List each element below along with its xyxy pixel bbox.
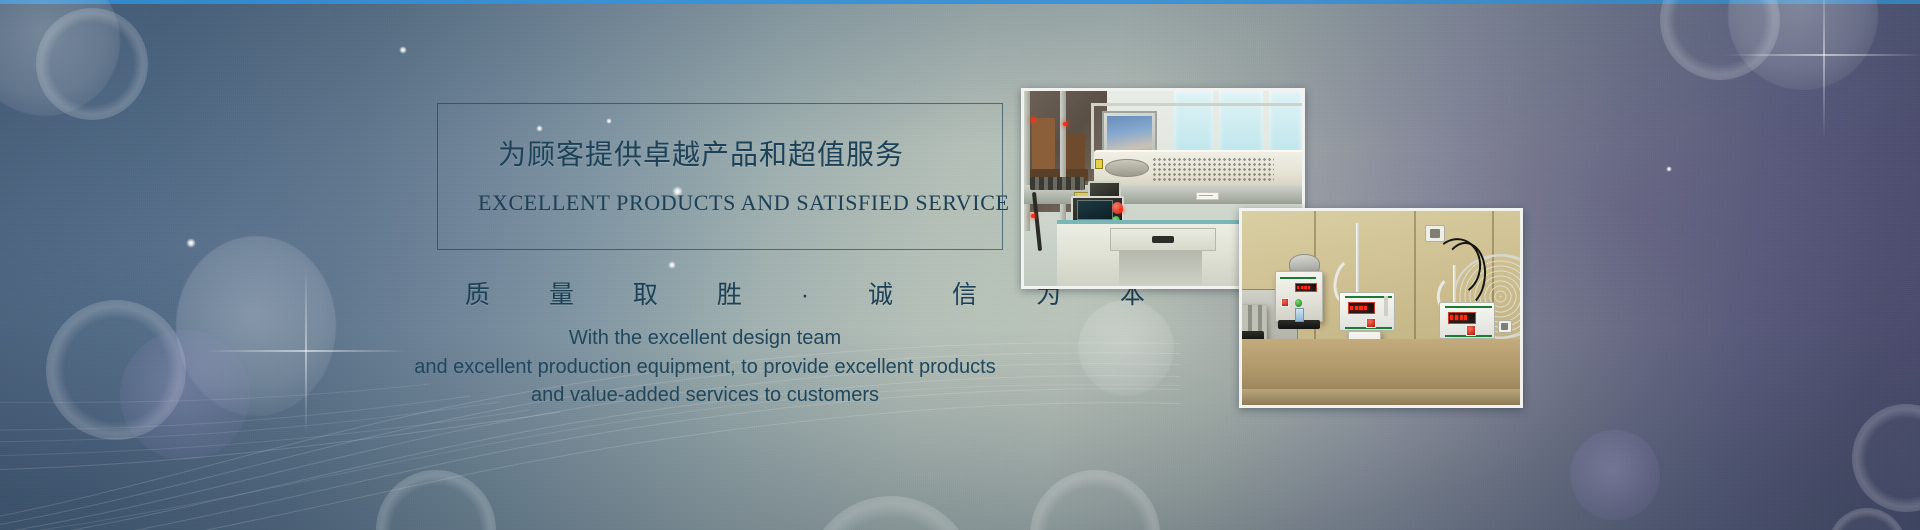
terminal-crimping-machines-photo — [1239, 208, 1523, 408]
headline-chinese: 为顾客提供卓越产品和超值服务 — [498, 133, 904, 173]
description-paragraph: With the excellent design team and excel… — [330, 324, 1080, 410]
description-line-1: With the excellent design team — [330, 324, 1080, 353]
description-line-2: and excellent production equipment, to p… — [330, 353, 1080, 382]
description-line-3: and value-added services to customers — [330, 381, 1080, 410]
company-culture-banner: 为顾客提供卓越产品和超值服务 EXCELLENT PRODUCTS AND SA… — [0, 0, 1920, 530]
top-accent-rule — [0, 0, 1920, 4]
headline-frame — [437, 103, 1003, 250]
headline-english: EXCELLENT PRODUCTS AND SATISFIED SERVICE — [478, 190, 1010, 216]
